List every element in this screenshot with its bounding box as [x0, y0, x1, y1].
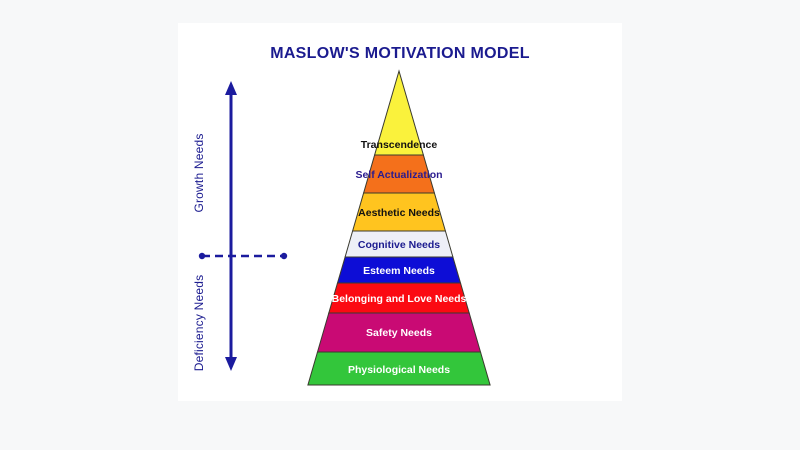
side-label-deficiency-needs: Deficiency Needs — [192, 275, 206, 372]
page-title: MASLOW'S MOTIVATION MODEL — [270, 45, 530, 62]
divider-dot-left-icon — [199, 253, 205, 259]
diagram-card: MASLOW'S MOTIVATION MODEL — [178, 23, 622, 401]
tier-label-esteem-needs: Esteem Needs — [363, 265, 435, 277]
side-label-growth-needs: Growth Needs — [192, 133, 206, 212]
tier-label-transcendence: Transcendence — [361, 139, 438, 151]
maslow-pyramid-diagram: MASLOW'S MOTIVATION MODEL — [178, 23, 622, 401]
tier-label-safety-needs: Safety Needs — [366, 327, 432, 339]
tier-label-belonging-and-love-needs: Belonging and Love Needs — [332, 293, 467, 305]
arrow-head-up-icon — [225, 81, 237, 95]
divider-dot-right-icon — [281, 253, 287, 259]
tier-label-aesthetic-needs: Aesthetic Needs — [358, 207, 440, 219]
screenshot-canvas: MASLOW'S MOTIVATION MODEL — [0, 0, 800, 450]
arrow-head-down-icon — [225, 357, 237, 371]
tier-label-physiological-needs: Physiological Needs — [348, 364, 450, 376]
tier-label-self-actualization: Self Actualization — [355, 169, 442, 181]
growth-deficiency-divider — [199, 253, 287, 259]
tier-label-cognitive-needs: Cognitive Needs — [358, 239, 440, 251]
growth-deficiency-axis-arrow — [225, 81, 237, 371]
